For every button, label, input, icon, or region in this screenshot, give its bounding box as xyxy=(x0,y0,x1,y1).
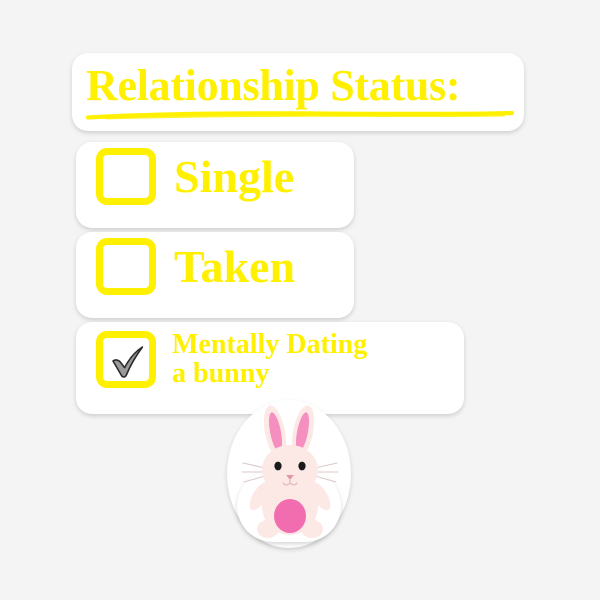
option-row-taken[interactable]: Taken xyxy=(96,238,295,295)
option-label-taken: Taken xyxy=(174,242,295,292)
page-title: Relationship Status: xyxy=(86,60,516,112)
option-row-single[interactable]: Single xyxy=(96,148,294,205)
bunny-head xyxy=(262,445,318,495)
option-label-line-2: a bunny xyxy=(172,359,367,388)
title-group: Relationship Status: xyxy=(86,60,516,130)
option-label-mentally-dating: Mentally Dating a bunny xyxy=(172,330,367,388)
option-label-line-1: Mentally Dating xyxy=(172,329,367,360)
option-row-mentally-dating[interactable]: Mentally Dating a bunny xyxy=(96,330,367,388)
checkbox-single[interactable] xyxy=(96,148,156,205)
sticker-canvas: Relationship Status: Single Taken Mental… xyxy=(0,0,600,600)
bunny-eye-left xyxy=(274,462,281,471)
checkbox-mentally-dating[interactable] xyxy=(96,331,156,388)
title-underline-stroke xyxy=(86,110,514,120)
bunny-eye-right xyxy=(298,462,305,471)
check-icon xyxy=(106,340,150,384)
option-label-single: Single xyxy=(174,152,294,202)
bunny-illustration xyxy=(237,404,343,540)
checkbox-taken[interactable] xyxy=(96,238,156,295)
bunny-belly xyxy=(274,499,306,533)
